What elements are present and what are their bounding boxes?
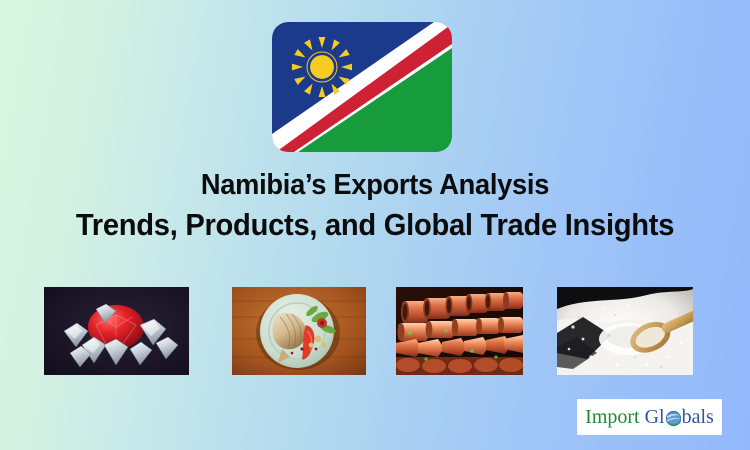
fish-dish-photo bbox=[232, 287, 366, 375]
salt-photo bbox=[557, 287, 693, 375]
product-image-fish bbox=[232, 287, 366, 375]
product-image-salt bbox=[557, 287, 693, 375]
logo-text: Import Gl bals bbox=[585, 406, 714, 429]
export-analysis-banner: Namibia’s Exports Analysis Trends, Produ… bbox=[0, 0, 750, 450]
logo-word-gl: Gl bbox=[645, 406, 665, 429]
headline-line-2: Trends, Products, and Global Trade Insig… bbox=[23, 205, 728, 245]
product-image-copper bbox=[396, 287, 523, 375]
globe-icon bbox=[665, 410, 682, 427]
globe-icon-svg bbox=[665, 410, 682, 427]
product-image-diamonds bbox=[44, 287, 189, 375]
namibia-flag-icon bbox=[272, 22, 452, 152]
copper-pipes-photo bbox=[396, 287, 523, 375]
import-globals-logo[interactable]: Import Gl bals bbox=[578, 400, 721, 434]
namibia-flag-svg bbox=[272, 22, 452, 152]
logo-word-import: Import bbox=[585, 406, 639, 429]
diamonds-photo bbox=[44, 287, 189, 375]
page-title: Namibia’s Exports Analysis Trends, Produ… bbox=[23, 165, 728, 245]
logo-word-bals: bals bbox=[682, 406, 714, 429]
headline-line-1: Namibia’s Exports Analysis bbox=[23, 165, 728, 205]
